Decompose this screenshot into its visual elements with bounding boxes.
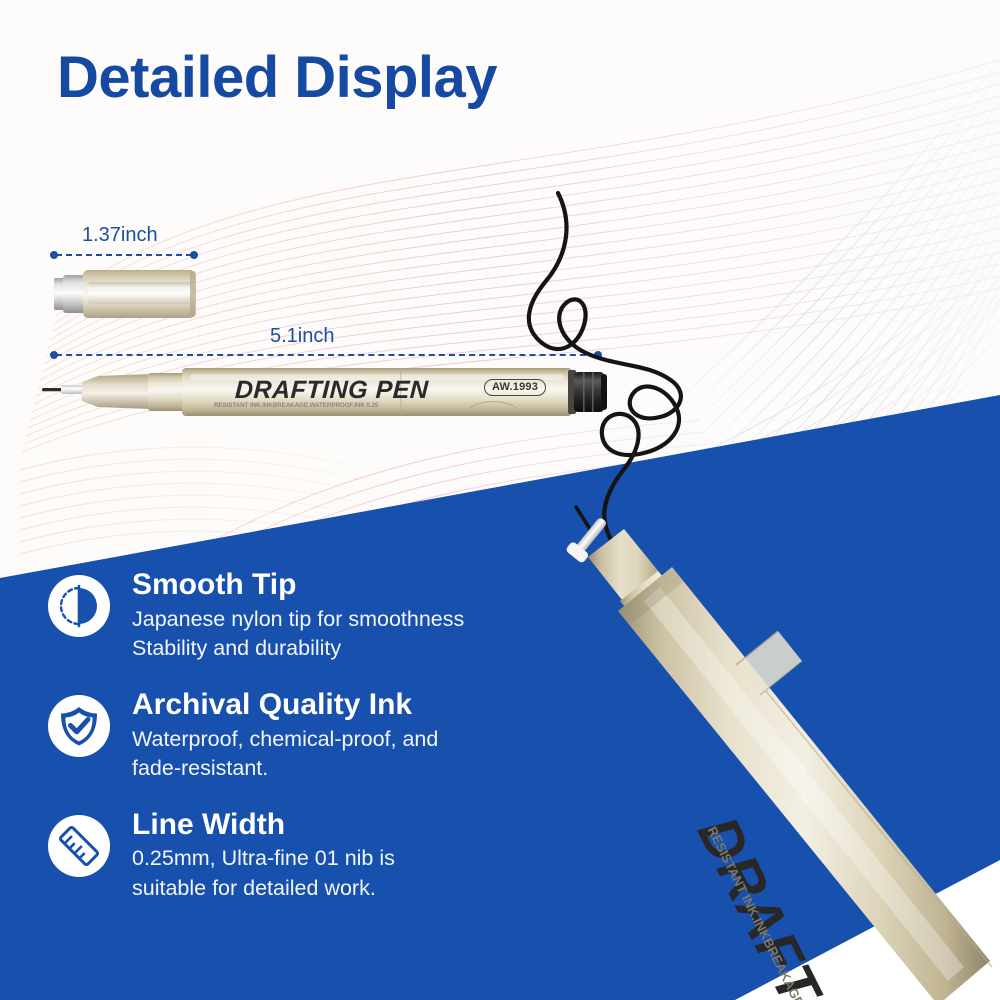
- feature-description: Japanese nylon tip for smoothness Stabil…: [132, 605, 572, 664]
- lens-tip-icon: [48, 575, 110, 637]
- cap-dimension-label: 1.37inch: [82, 224, 158, 247]
- pen-brand-text: DRAFTING PEN: [234, 376, 429, 405]
- feature-list: Smooth Tip Japanese nylon tip for smooth…: [48, 566, 608, 926]
- page-title: Detailed Display: [57, 44, 497, 111]
- ruler-icon: [48, 815, 110, 877]
- shield-check-icon: [48, 695, 110, 757]
- feature-text-block: Smooth Tip Japanese nylon tip for smooth…: [132, 566, 608, 664]
- pen-dimension-label: 5.1inch: [270, 325, 335, 348]
- feature-desc-line-2: suitable for detailed work.: [132, 874, 572, 904]
- feature-text-block: Line Width 0.25mm, Ultra-fine 01 nib is …: [132, 806, 608, 904]
- feature-description: Waterproof, chemical-proof, and fade-res…: [132, 725, 572, 784]
- dimension-endpoint-right: [190, 251, 198, 259]
- feature-desc-line-1: 0.25mm, Ultra-fine 01 nib is: [132, 844, 572, 874]
- cap-dimension-line: [50, 254, 198, 256]
- feature-desc-line-1: Waterproof, chemical-proof, and: [132, 725, 572, 755]
- feature-desc-line-2: Stability and durability: [132, 634, 572, 664]
- feature-desc-line-2: fade-resistant.: [132, 754, 572, 784]
- feature-item-archival-ink: Archival Quality Ink Waterproof, chemica…: [48, 686, 608, 784]
- pen-cap-illustration: [48, 266, 200, 322]
- dimension-dashed-rule: [56, 354, 596, 356]
- dimension-dashed-rule: [56, 254, 192, 256]
- feature-desc-line-1: Japanese nylon tip for smoothness: [132, 605, 572, 635]
- feature-item-smooth-tip: Smooth Tip Japanese nylon tip for smooth…: [48, 566, 608, 664]
- feature-item-line-width: Line Width 0.25mm, Ultra-fine 01 nib is …: [48, 806, 608, 904]
- feature-text-block: Archival Quality Ink Waterproof, chemica…: [132, 686, 608, 784]
- product-detail-page: Detailed Display 1.37inch: [0, 0, 1000, 1000]
- feature-description: 0.25mm, Ultra-fine 01 nib is suitable fo…: [132, 844, 572, 903]
- feature-title: Smooth Tip: [132, 568, 608, 602]
- feature-title: Archival Quality Ink: [132, 688, 608, 722]
- pen-barrel-microtext: RESISTANT INK.INKBREAKAGE.WATERPROOF.INK…: [214, 402, 378, 409]
- feature-title: Line Width: [132, 808, 608, 842]
